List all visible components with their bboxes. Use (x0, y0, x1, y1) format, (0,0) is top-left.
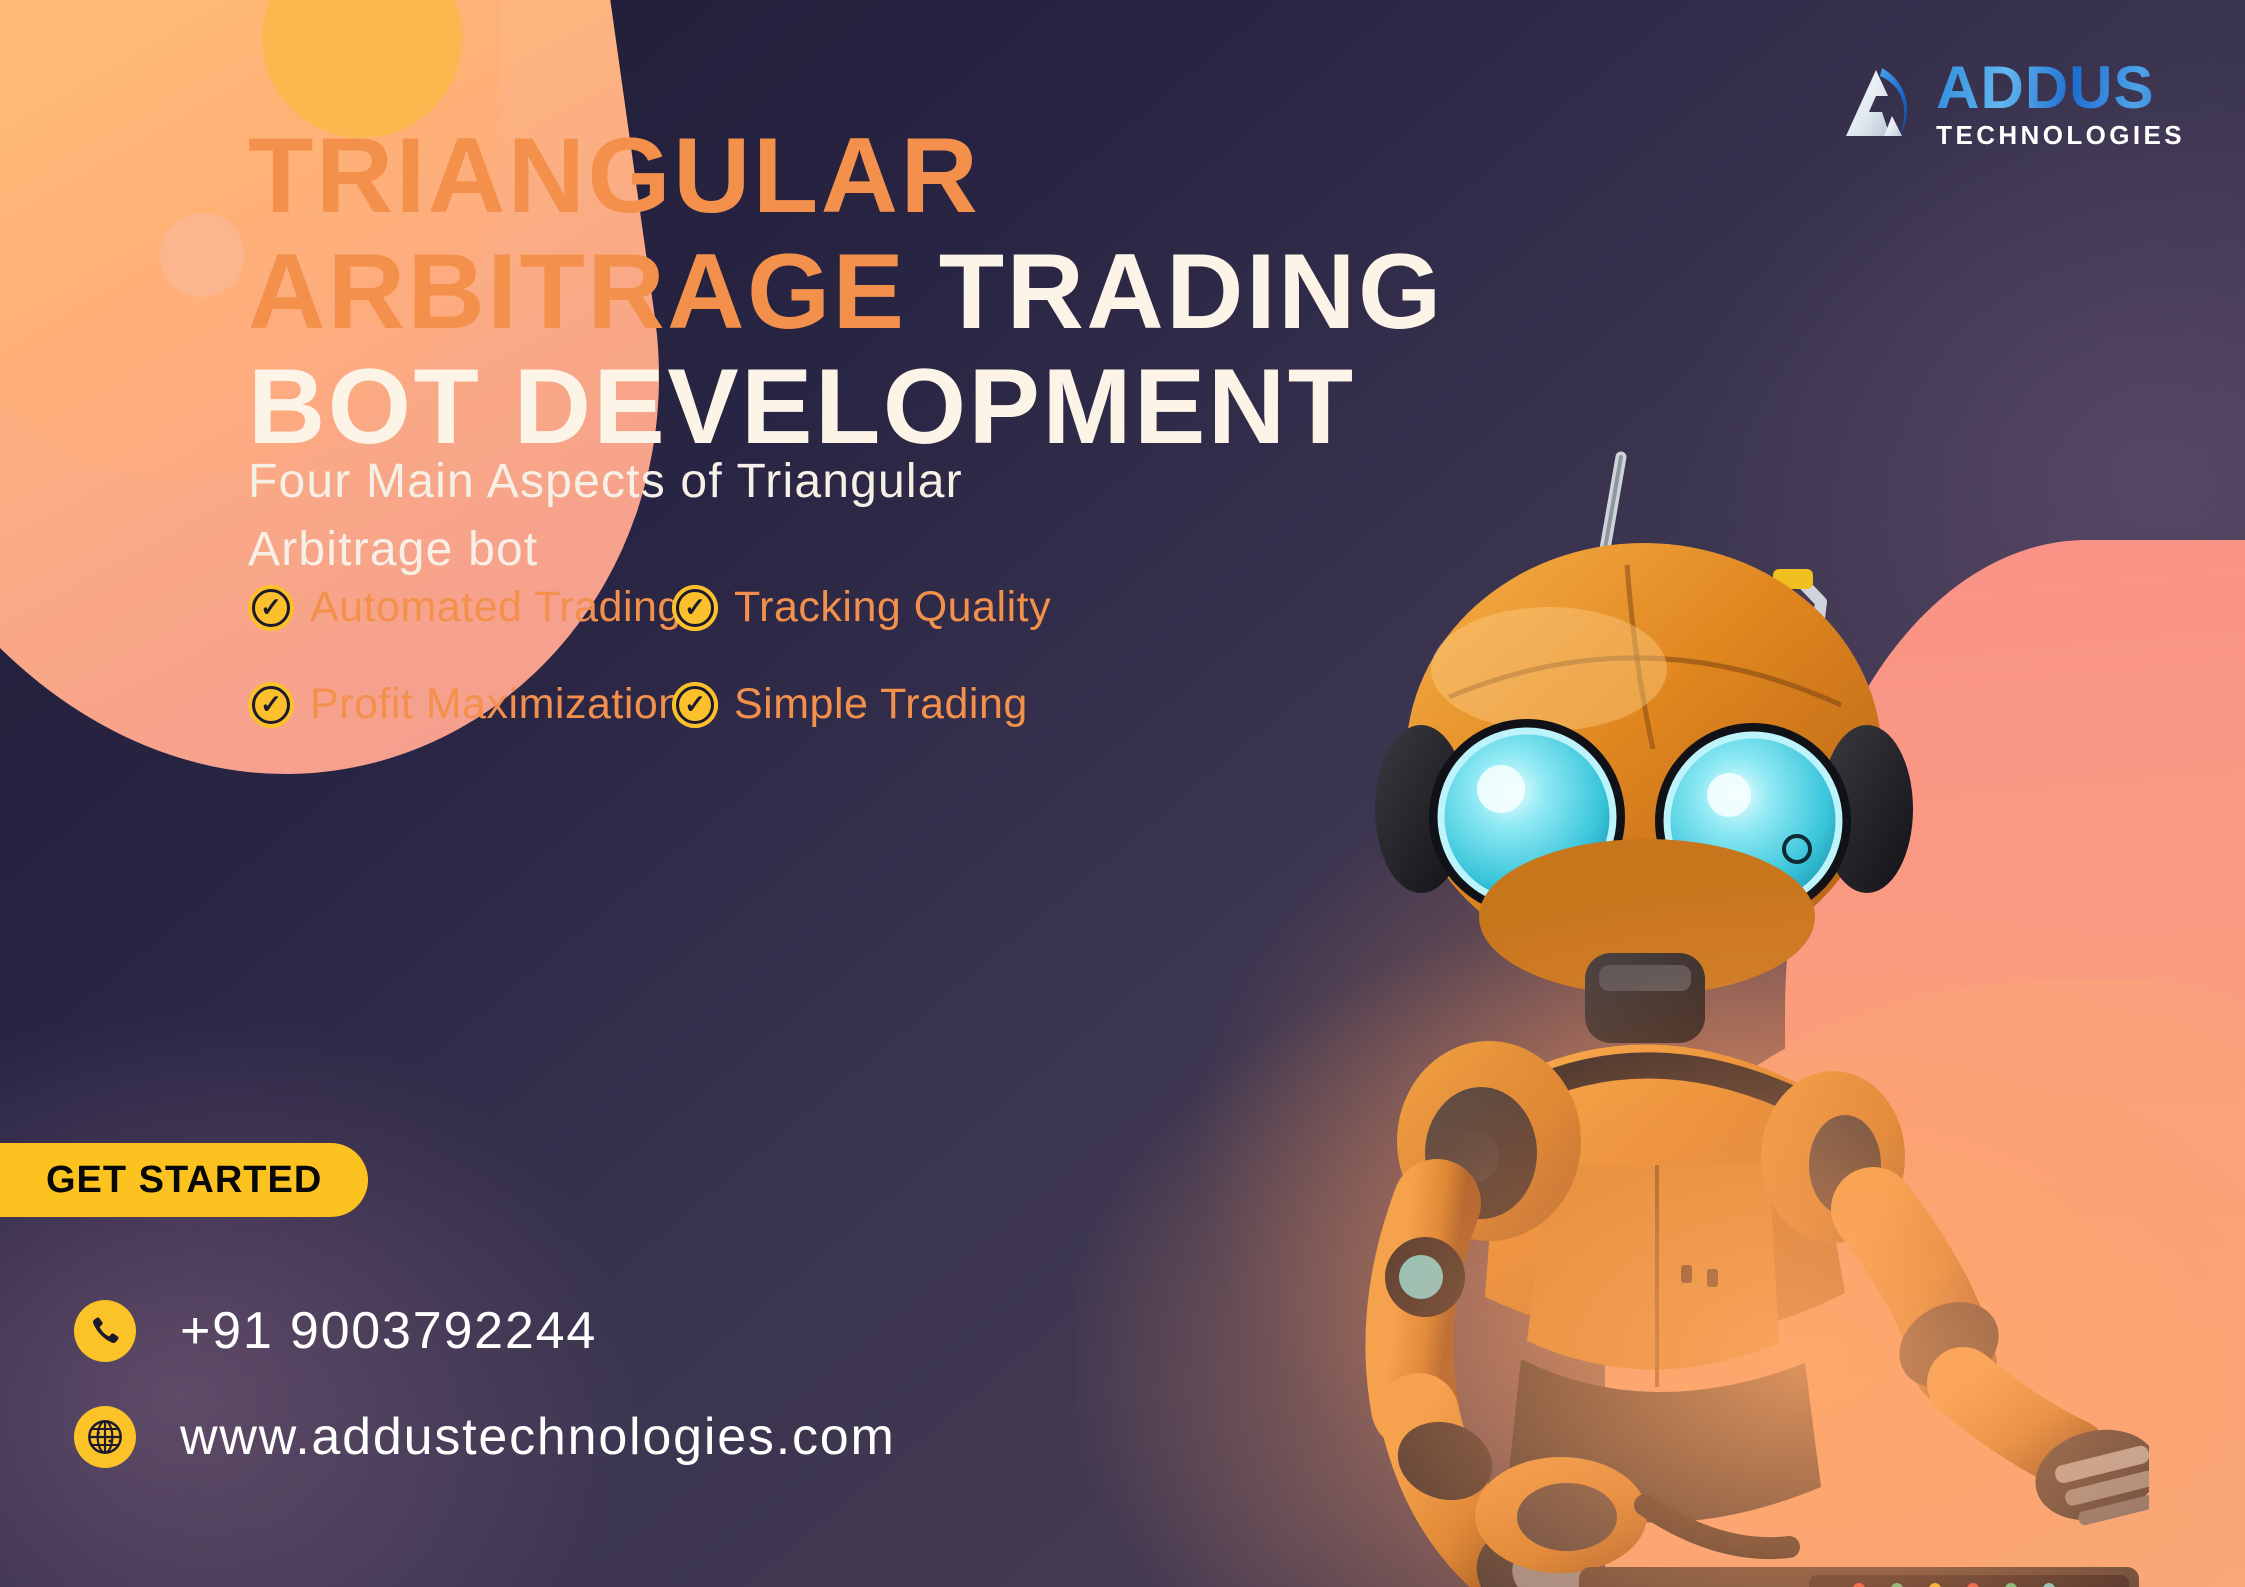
feature-label: Tracking Quality (734, 583, 1051, 632)
brand-logo[interactable]: ADDUS TECHNOLOGIES (1836, 58, 2185, 148)
check-circle-icon: ✓ (248, 682, 294, 728)
feature-item-profit-maximization: ✓ Profit Maximization (248, 680, 648, 729)
check-circle-icon: ✓ (248, 585, 294, 631)
headline-line-1: TRIANGULAR (248, 118, 1428, 234)
website-url: www.addustechnologies.com (180, 1407, 896, 1467)
contact-phone-row[interactable]: +91 9003792244 (74, 1300, 896, 1362)
addus-a-mark-icon (1836, 60, 1922, 146)
feature-label: Automated Trading (310, 583, 682, 632)
globe-icon (74, 1406, 136, 1468)
feature-list: ✓ Automated Trading ✓ Tracking Quality ✓… (248, 583, 1051, 729)
phone-number: +91 9003792244 (180, 1301, 597, 1361)
get-started-button[interactable]: GET STARTED (0, 1143, 368, 1217)
page-subtitle: Four Main Aspects of Triangular Arbitrag… (248, 448, 1038, 584)
check-glyph: ✓ (684, 691, 706, 717)
contact-block: +91 9003792244 www.addustechnologies.com (74, 1300, 896, 1468)
check-circle-icon: ✓ (672, 682, 718, 728)
check-circle-icon: ✓ (672, 585, 718, 631)
phone-icon (74, 1300, 136, 1362)
check-glyph: ✓ (260, 594, 282, 620)
contact-website-row[interactable]: www.addustechnologies.com (74, 1406, 896, 1468)
robot-illustration (1249, 397, 2149, 1587)
headline-triangular: TRIANGULAR (248, 115, 980, 235)
headline-trading: TRADING (939, 231, 1444, 351)
check-glyph: ✓ (684, 594, 706, 620)
headline-line-2: ARBITRAGE TRADING (248, 234, 1428, 350)
headline-arbitrage: ARBITRAGE (248, 231, 907, 351)
promo-banner: ADDUS TECHNOLOGIES TRIANGULAR ARBITRAGE … (0, 0, 2245, 1587)
feature-item-automated-trading: ✓ Automated Trading (248, 583, 648, 632)
get-started-label: GET STARTED (46, 1159, 322, 1202)
feature-label: Simple Trading (734, 680, 1028, 729)
logo-wordmark: ADDUS (1936, 58, 2185, 118)
logo-tagline-text: TECHNOLOGIES (1936, 122, 2185, 148)
feature-item-simple-trading: ✓ Simple Trading (672, 680, 1051, 729)
decor-circle-peach (160, 213, 244, 297)
page-title: TRIANGULAR ARBITRAGE TRADING BOT DEVELOP… (248, 118, 1428, 465)
feature-label: Profit Maximization (310, 680, 683, 729)
feature-item-tracking-quality: ✓ Tracking Quality (672, 583, 1051, 632)
check-glyph: ✓ (260, 691, 282, 717)
